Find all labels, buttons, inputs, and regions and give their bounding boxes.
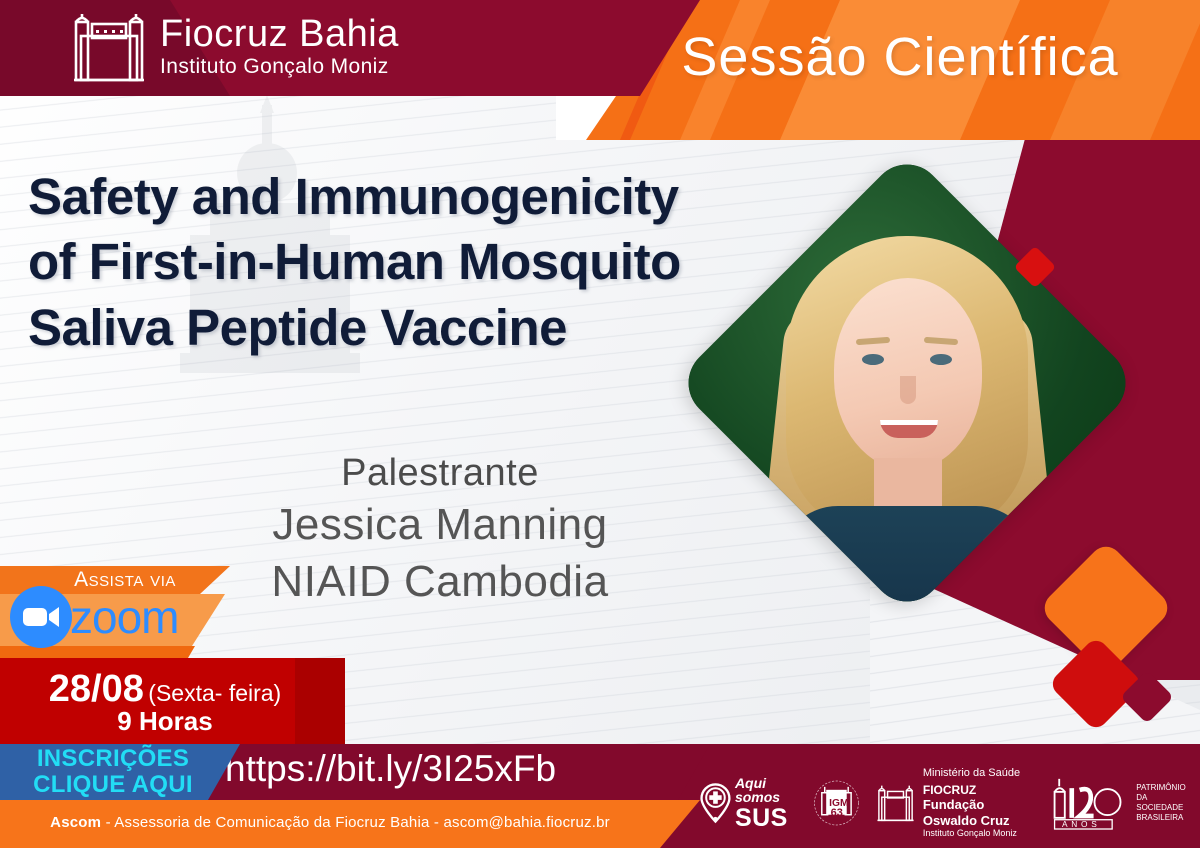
sus-wordmark: SUS — [735, 806, 797, 831]
sus-logo: Aqui somos SUS — [700, 776, 797, 831]
anniversary-tag-1: PATRIMÔNIO — [1136, 783, 1192, 793]
speaker-organization: NIAID Cambodia — [180, 553, 700, 610]
registration-url[interactable]: https://bit.ly/3I25xFb — [225, 748, 625, 790]
event-date-row: 28/08 (Sexta- feira) — [0, 668, 330, 711]
fiocruz-label: FIOCRUZ — [923, 783, 1033, 797]
120-anos-tower-icon: ANOS — [1049, 775, 1131, 831]
footer-logo-row: Aqui somos SUS IGM 63 — [700, 762, 1192, 844]
fiocruz-full-name: Fundação Oswaldo Cruz — [923, 797, 1033, 828]
svg-text:ANOS: ANOS — [1062, 819, 1101, 829]
igm-institute-name: Instituto Gonçalo Moniz — [923, 828, 1033, 839]
anniversary-tag-2: DA SOCIEDADE — [1136, 793, 1192, 813]
zoom-wordmark: zoom — [70, 594, 178, 640]
sus-location-pin-cross-icon — [700, 777, 731, 829]
anniversary-tag-3: BRASILEIRA — [1136, 813, 1192, 823]
session-label: Sessão Científica — [640, 26, 1160, 88]
ascom-credit: Ascom - Assessoria de Comunicação da Fio… — [0, 814, 660, 831]
registration-cta[interactable]: INSCRIÇÕES CLIQUE AQUI — [18, 746, 208, 798]
sus-tagline: Aqui somos — [735, 776, 797, 804]
fiocruz-building-icon — [876, 775, 915, 831]
zoom-logo[interactable]: zoom — [10, 586, 178, 648]
ascom-details: - Assessoria de Comunicação da Fiocruz B… — [101, 814, 610, 831]
speaker-role-label: Palestrante — [180, 452, 700, 496]
title-line-1: Safety and Immunogenicity — [28, 164, 788, 229]
zoom-video-camera-icon — [10, 586, 72, 648]
igm-63-seal-icon: IGM 63 — [813, 771, 860, 835]
ministry-name: Ministério da Saúde — [923, 767, 1033, 780]
title-line-3: Saliva Peptide Vaccine — [28, 295, 788, 360]
institution-subtitle: Instituto Gonçalo Moniz — [160, 56, 399, 77]
ministry-logo: Ministério da Saúde FIOCRUZ Fundação Osw… — [876, 767, 1033, 838]
fiocruz-building-icon — [70, 8, 148, 84]
title-line-2: of First-in-Human Mosquito — [28, 229, 788, 294]
event-weekday: (Sexta- feira) — [148, 680, 281, 706]
anniversary-logo: ANOS PATRIMÔNIO DA SOCIEDADE BRASILEIRA — [1049, 775, 1192, 831]
registration-cta-line-1: INSCRIÇÕES — [18, 746, 208, 772]
speaker-block: Palestrante Jessica Manning NIAID Cambod… — [180, 452, 700, 610]
svg-text:63: 63 — [831, 807, 843, 819]
event-poster: Fiocruz Bahia Instituto Gonçalo Moniz Se… — [0, 0, 1200, 848]
fiocruz-logo: Fiocruz Bahia Instituto Gonçalo Moniz — [70, 8, 399, 84]
event-date: 28/08 — [49, 668, 144, 710]
ascom-label: Ascom — [50, 814, 101, 831]
event-time: 9 Horas — [0, 706, 330, 737]
registration-cta-line-2: CLIQUE AQUI — [18, 772, 208, 798]
institution-name: Fiocruz Bahia — [160, 15, 399, 53]
page-title: Safety and Immunogenicity of First-in-Hu… — [28, 164, 788, 360]
speaker-name: Jessica Manning — [180, 496, 700, 553]
